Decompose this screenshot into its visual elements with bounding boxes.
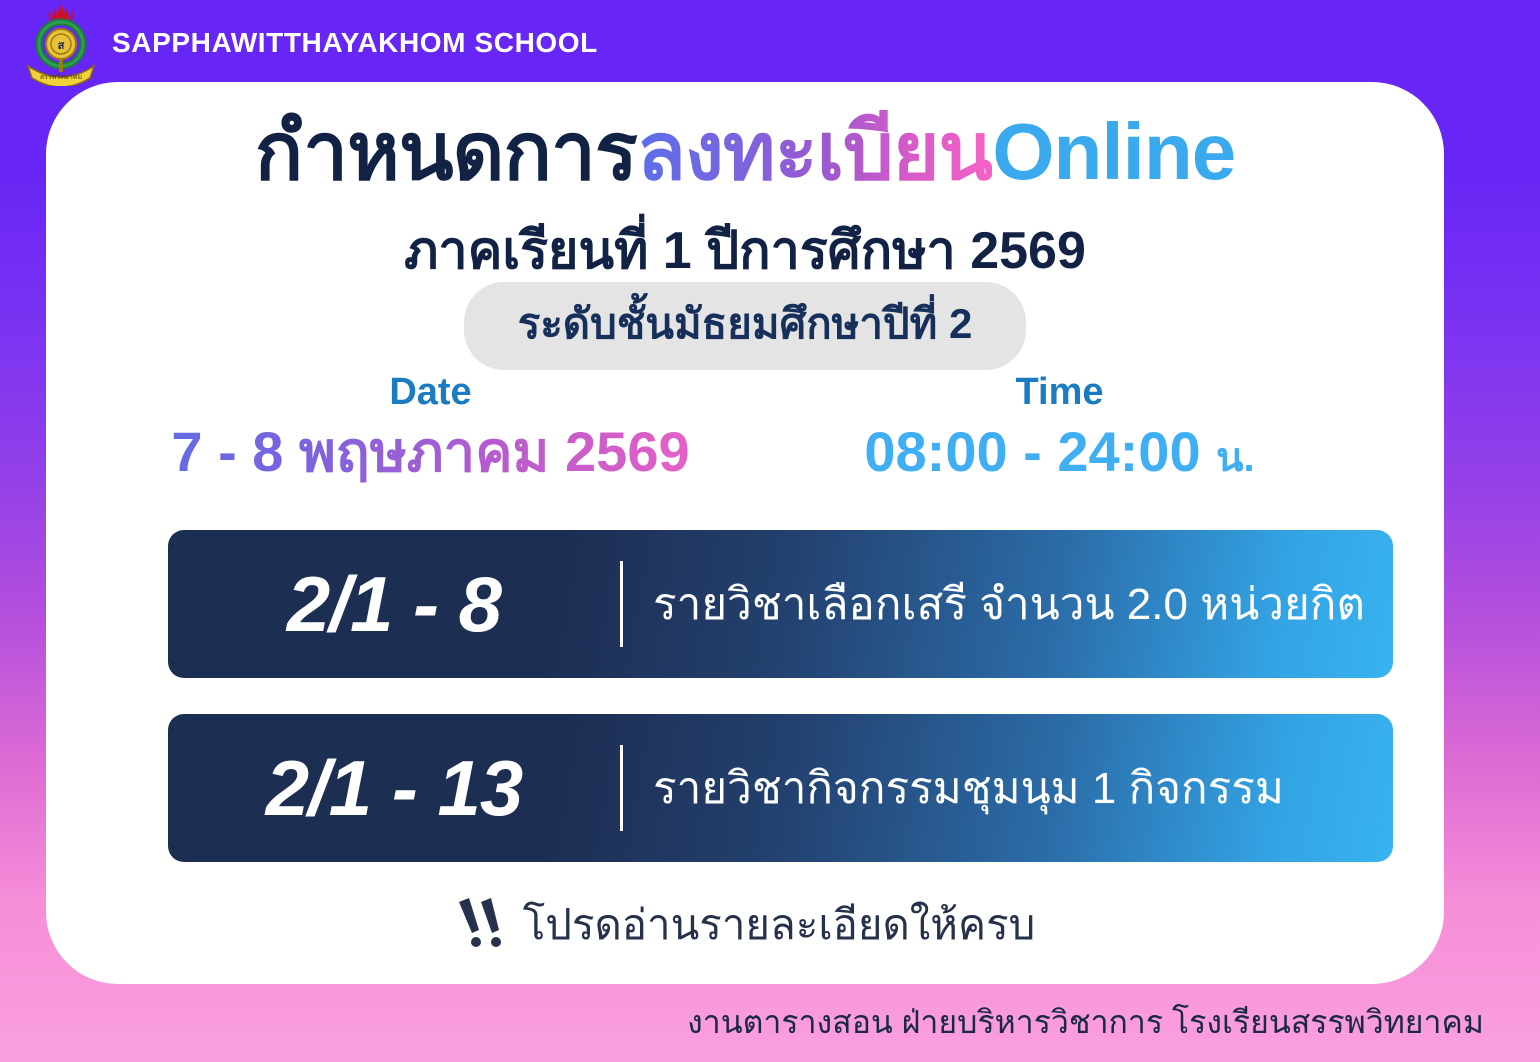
poster-title: กำหนดการลงทะเบียนOnline xyxy=(46,110,1444,194)
note-text: โปรดอ่านรายละเอียดให้ครบ xyxy=(523,892,1036,958)
title-part-schedule: กำหนดการ xyxy=(255,107,637,196)
title-part-online: Online xyxy=(992,107,1235,196)
date-column: Date 7 - 8 พฤษภาคม 2569 xyxy=(116,372,745,484)
svg-text:ส: ส xyxy=(58,40,65,52)
grade-pill-wrapper: ระดับชั้นมัธยมศึกษาปีที่ 2 xyxy=(46,282,1444,370)
poster-header: ส สรรพวิทยาคม SAPPHAWITTHAYAKHOM SCHOOL xyxy=(0,0,1540,86)
subject-rows: 2/1 - 8 รายวิชาเลือกเสรี จำนวน 2.0 หน่วย… xyxy=(168,530,1393,898)
school-crest-icon: ส สรรพวิทยาคม xyxy=(22,0,100,86)
time-unit: น. xyxy=(1216,436,1254,480)
time-value-wrapper: 08:00 - 24:00 น. xyxy=(745,420,1374,484)
row-code: 2/1 - 8 xyxy=(168,559,620,650)
table-row: 2/1 - 8 รายวิชาเลือกเสรี จำนวน 2.0 หน่วย… xyxy=(168,530,1393,678)
date-value: 7 - 8 พฤษภาคม 2569 xyxy=(116,420,745,484)
title-part-register: ลงทะเบียน xyxy=(637,107,992,196)
poster-subtitle: ภาคเรียนที่ 1 ปีการศึกษา 2569 xyxy=(46,208,1444,291)
content-card: กำหนดการลงทะเบียนOnline ภาคเรียนที่ 1 ปี… xyxy=(46,82,1444,984)
row-description: รายวิชากิจกรรมชุมนุม 1 กิจกรรม xyxy=(623,753,1284,823)
date-label: Date xyxy=(116,372,745,414)
date-time-row: Date 7 - 8 พฤษภาคม 2569 Time 08:00 - 24:… xyxy=(116,372,1374,484)
time-value: 08:00 - 24:00 xyxy=(864,420,1200,483)
time-column: Time 08:00 - 24:00 น. xyxy=(745,372,1374,484)
school-name-label: SAPPHAWITTHAYAKHOM SCHOOL xyxy=(112,27,598,59)
table-row: 2/1 - 13 รายวิชากิจกรรมชุมนุม 1 กิจกรรม xyxy=(168,714,1393,862)
poster-root: ส สรรพวิทยาคม SAPPHAWITTHAYAKHOM SCHOOL … xyxy=(0,0,1540,1062)
row-code: 2/1 - 13 xyxy=(168,743,620,834)
note-row: โปรดอ่านรายละเอียดให้ครบ xyxy=(46,892,1444,958)
grade-level-badge: ระดับชั้นมัธยมศึกษาปีที่ 2 xyxy=(464,282,1027,370)
row-description: รายวิชาเลือกเสรี จำนวน 2.0 หน่วยกิต xyxy=(623,569,1365,639)
double-exclamation-icon xyxy=(455,896,517,954)
time-label: Time xyxy=(745,372,1374,414)
footer-credit: งานตารางสอน ฝ่ายบริหารวิชาการ โรงเรียนสร… xyxy=(687,997,1484,1048)
svg-text:สรรพวิทยาคม: สรรพวิทยาคม xyxy=(40,73,82,81)
